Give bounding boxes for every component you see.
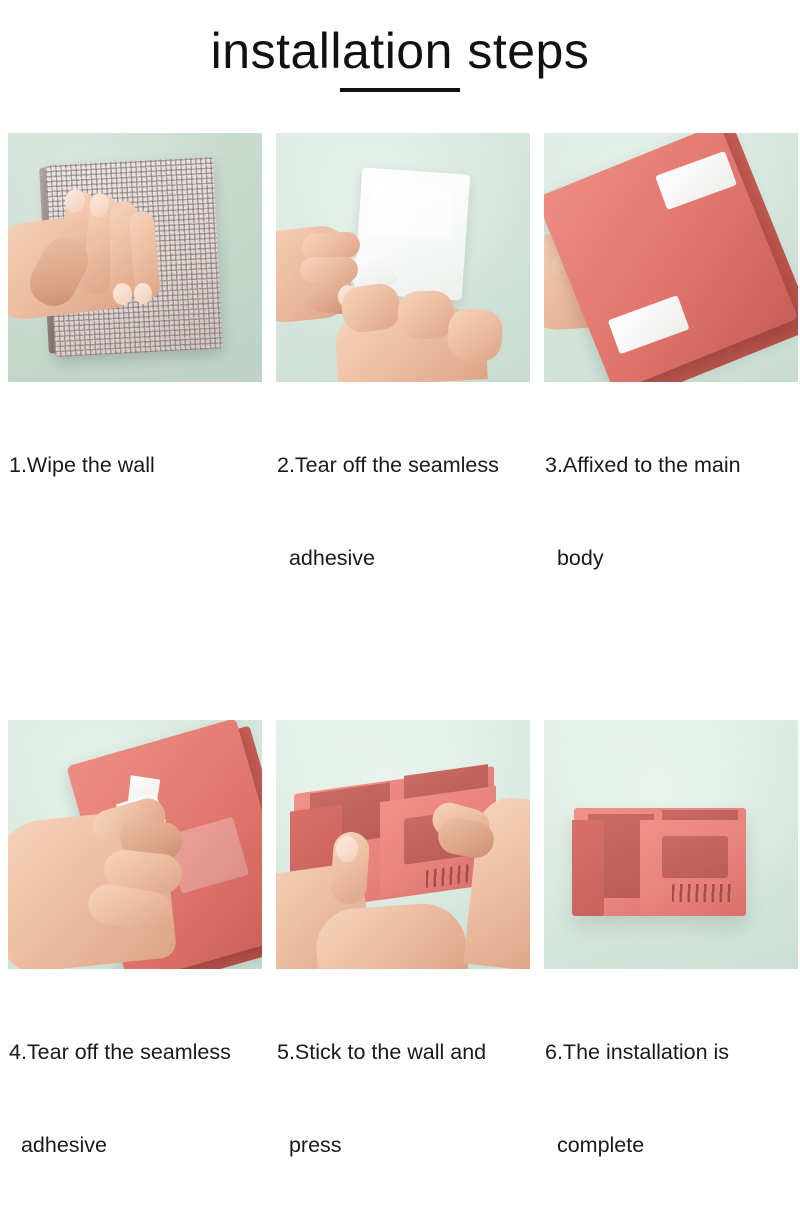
step-card-4: 4.Tear off the seamless adhesive [8,720,262,1223]
caption-line-2: adhesive [9,1130,262,1161]
step-card-2: 2.Tear off the seamless adhesive [276,133,530,636]
organizer-window-cutout [662,836,728,878]
step-image-1 [8,133,262,382]
caption-line-1: 3.Affixed to the main [545,450,798,481]
left-thumbnail [336,836,358,862]
caption-line-2: complete [545,1130,798,1161]
organizer-left-pocket-front [572,820,604,916]
page-header: installation steps [0,22,800,92]
step-card-5: 5.Stick to the wall and press [276,720,530,1223]
steps-grid: 1.Wipe the wall [8,133,798,1223]
caption-line-1: 1.Wipe the wall [9,450,262,481]
title-underline [340,88,460,92]
step-image-2 [276,133,530,382]
caption-line-2: body [545,543,798,574]
right-finger-middle [397,290,455,340]
page-title: installation steps [0,22,800,80]
caption-line-1: 4.Tear off the seamless [9,1037,262,1068]
caption-line-2: adhesive [277,543,530,574]
sticker-highlight [368,182,455,240]
adhesive-strip-top [655,151,737,210]
installation-steps-page: installation steps 1.Wipe th [0,0,800,800]
row-spacer [276,636,530,720]
step-card-6: 6.The installation is complete [544,720,798,1223]
caption-line-1: 6.The installation is [545,1037,798,1068]
step-caption-1: 1.Wipe the wall [8,382,262,605]
step-caption-2: 2.Tear off the seamless adhesive [276,382,530,636]
row-spacer [544,636,798,720]
step-caption-6: 6.The installation is complete [544,969,798,1223]
step-image-5 [276,720,530,969]
step-caption-5: 5.Stick to the wall and press [276,969,530,1223]
step-caption-3: 3.Affixed to the main body [544,382,798,636]
caption-line-2: press [277,1130,530,1161]
right-finger-ring [446,307,503,363]
step-image-4 [8,720,262,969]
step-image-3 [544,133,798,382]
step-image-6 [544,720,798,969]
nail-ring [113,283,132,305]
step-card-3: 3.Affixed to the main body [544,133,798,636]
step-caption-4: 4.Tear off the seamless adhesive [8,969,262,1223]
row-spacer [8,636,262,720]
caption-line-1: 5.Stick to the wall and [277,1037,530,1068]
drain-vents-icon [672,884,734,902]
adhesive-strip-bottom [608,295,690,354]
caption-line-1: 2.Tear off the seamless [277,450,530,481]
left-finger-middle [300,256,358,283]
step-card-1: 1.Wipe the wall [8,133,262,636]
